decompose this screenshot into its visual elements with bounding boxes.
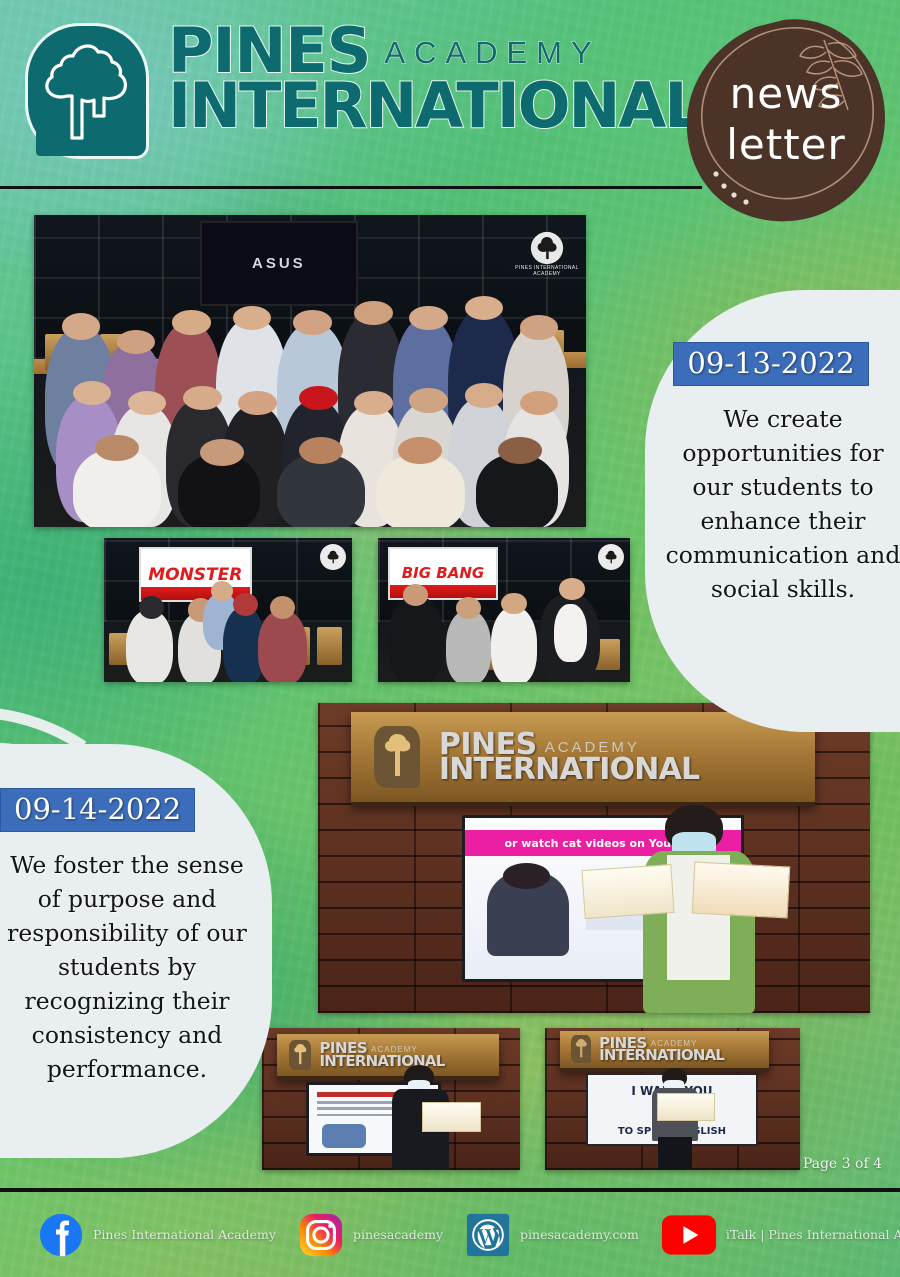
photo-watermark: PINES INTERNATIONAL ACADEMY [514,221,580,287]
page-number: Page 3 of 4 [803,1156,882,1172]
facebook-icon[interactable] [38,1212,84,1258]
footer-item-youtube[interactable]: iTalk | Pines International Academy [661,1214,900,1256]
date-badge-09-14-2022: 09-14-2022 [0,788,195,832]
photo-award-main: PINES ACADEMY INTERNATIONAL or watch cat… [318,703,870,1013]
photo-award-left: PINES ACADEMY INTERNATIONAL [262,1028,520,1170]
footer-item-instagram[interactable]: pinesacademy [298,1212,443,1258]
photo-watermark-icon [320,544,346,570]
badge-news-text: news [730,73,843,115]
photo-award-right: PINES ACADEMY INTERNATIONAL I WANT YOU T… [545,1028,800,1170]
wordpress-icon[interactable] [465,1212,511,1258]
footer-item-wordpress[interactable]: pinesacademy.com [465,1212,639,1258]
footer-label-wordpress: pinesacademy.com [520,1227,639,1242]
entry-body-left: We foster the sense of purpose and respo… [0,848,266,1086]
award-sign-international: INTERNATIONAL [439,755,700,784]
footer-label-instagram: pinesacademy [353,1227,443,1242]
footer-item-facebook[interactable]: Pines International Academy [38,1212,276,1258]
newsletter-badge: news letter [672,14,892,226]
award-right-sign-academy: ACADEMY [651,1040,698,1050]
photo-group-classroom: ASUS [34,215,586,527]
footer-label-youtube: iTalk | Pines International Academy [726,1227,900,1242]
footer-label-facebook: Pines International Academy [93,1227,276,1242]
wordmark-international: INTERNATIONAL [168,75,688,137]
entry-card-left: 09-14-2022 We foster the sense of purpos… [0,744,272,1158]
award-sign-academy: ACADEMY [545,741,640,760]
entry-card-right: 09-13-2022 We create opportunities for o… [645,290,900,732]
award-right-sign-international: INTERNATIONAL [599,1048,724,1063]
entry-body-right: We create opportunities for our students… [647,402,900,606]
brand-wordmark: PINES ACADEMY INTERNATIONAL [168,22,688,137]
pine-tree-icon [42,38,134,146]
date-badge-09-13-2022: 09-13-2022 [673,342,868,386]
newsletter-page: PINES ACADEMY INTERNATIONAL [0,0,900,1277]
page-header: PINES ACADEMY INTERNATIONAL [0,0,900,190]
badge-label: news letter [672,14,892,226]
photo-team-monster: MONSTER [104,538,352,682]
monster-sign: MONSTER [139,547,252,603]
pine-tree-watermark-icon [530,231,564,265]
photo-watermark-icon [598,544,624,570]
badge-letter-text: letter [726,123,846,167]
youtube-icon[interactable] [661,1214,717,1256]
watermark-text: PINES INTERNATIONAL ACADEMY [514,265,580,278]
page-footer: Pines International Academy pinesacademy [0,1192,900,1277]
photo-team-bigbang: BIG BANG [378,538,630,682]
instagram-icon[interactable] [298,1212,344,1258]
header-divider [0,186,702,189]
award-left-sign-academy: ACADEMY [371,1046,418,1056]
pine-tree-logo [28,26,146,156]
